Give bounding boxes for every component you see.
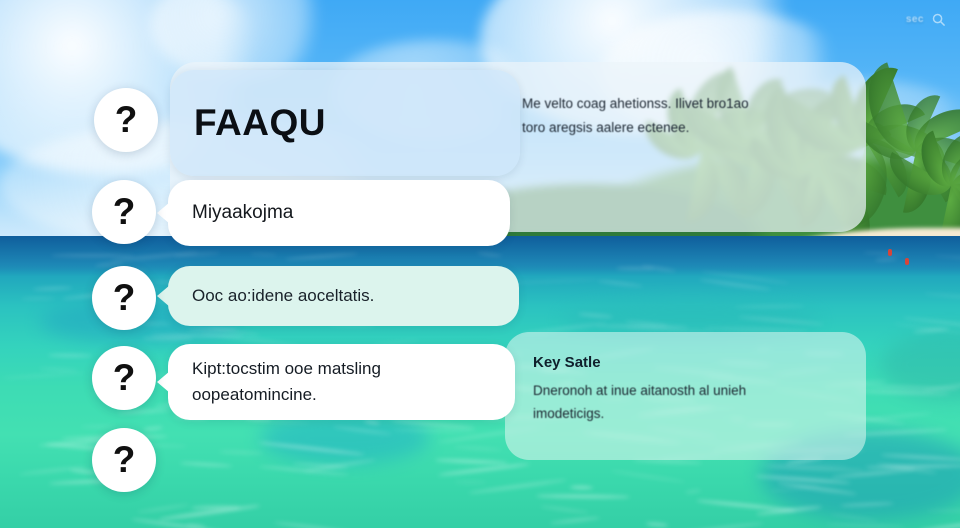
topbar-tools: sec (906, 12, 946, 27)
question-mark-icon[interactable]: ? (92, 180, 156, 244)
faq-heading: FAAQU (194, 102, 326, 144)
question-mark-icon[interactable]: ? (92, 428, 156, 492)
faq-question-label: Ooc ao:idene aoceltatis. (192, 286, 374, 306)
search-icon[interactable] (931, 12, 946, 27)
faq-question-bubble[interactable]: Kipt:tocstim ooe matslingoopeatomincine. (168, 344, 515, 420)
bubble-tail (157, 371, 170, 393)
faq-side-card[interactable]: Key Satle Dneronoh at inue aitanosth al … (505, 332, 866, 460)
question-mark-icon[interactable]: ? (92, 266, 156, 330)
bubble-tail (157, 285, 170, 307)
faq-question-label: Miyaakojma (192, 202, 293, 224)
side-card-body: Dneronoh at inue aitanosth al uniehimode… (533, 380, 845, 426)
bubble-tail (157, 202, 170, 224)
faq-question-bubble[interactable]: Ooc ao:idene aoceltatis. (168, 266, 519, 326)
faq-question-bubble[interactable]: Miyaakojma (168, 180, 510, 246)
topbar-tool-label: sec (906, 14, 924, 25)
faq-intro-text: Me velto coag ahetionss. Ilivet bro1aoto… (522, 92, 842, 139)
faq-overlay: sec Me velto coag ahetionss. Ilivet bro1… (0, 0, 960, 528)
question-mark-icon[interactable]: ? (94, 88, 158, 152)
question-mark-icon[interactable]: ? (92, 346, 156, 410)
side-card-title: Key Satle (533, 354, 601, 371)
faq-title-bubble[interactable]: FAAQU (170, 70, 520, 176)
faq-question-label: Kipt:tocstim ooe matslingoopeatomincine. (192, 356, 381, 409)
